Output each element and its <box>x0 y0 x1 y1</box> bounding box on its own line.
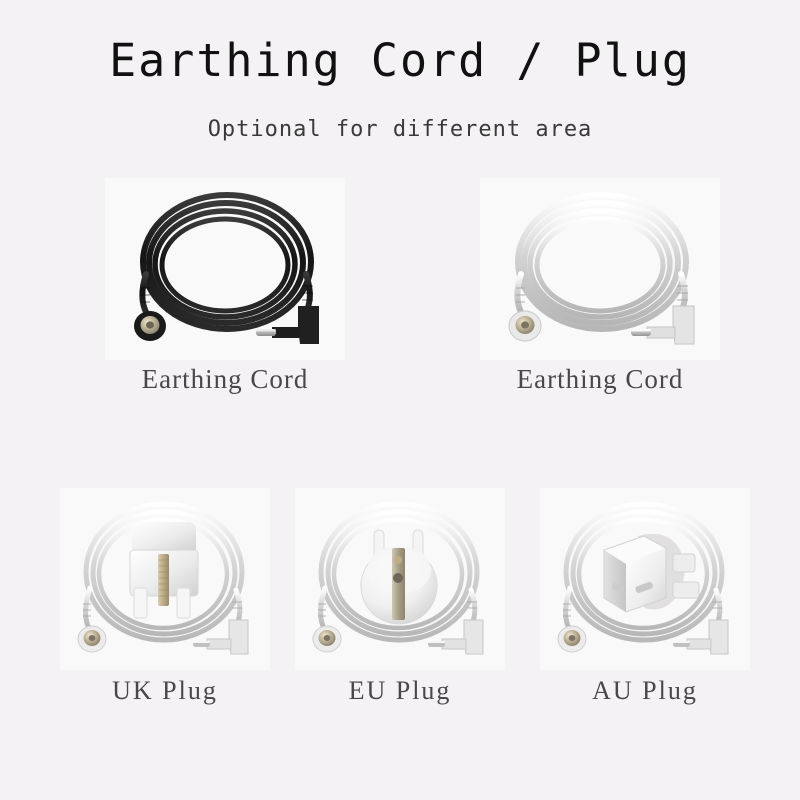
snap-stud-connector-white <box>509 311 541 341</box>
cord-white-illustration <box>480 178 720 360</box>
cord-black-illustration <box>105 178 345 360</box>
product-image-page: Earthing Cord / Plug Optional for differ… <box>0 0 800 800</box>
product-cell-cord-black: Earthing Cord <box>105 178 345 408</box>
page-subtitle: Optional for different area <box>0 117 800 142</box>
uk-plug-body <box>130 522 198 618</box>
plug-uk-illustration <box>60 488 270 670</box>
snap-stud-connector-eu <box>313 626 341 652</box>
product-label-cord-white: Earthing Cord <box>480 364 720 395</box>
product-photo-cord-black <box>105 178 345 360</box>
snap-stud-connector-au <box>558 626 586 652</box>
product-cell-plug-uk: UK Plug <box>60 488 270 733</box>
product-label-plug-au: AU Plug <box>540 676 750 706</box>
product-photo-plug-eu <box>295 488 505 670</box>
product-label-cord-black: Earthing Cord <box>105 364 345 395</box>
product-label-plug-eu: EU Plug <box>295 676 505 706</box>
page-title: Earthing Cord / Plug <box>0 34 800 87</box>
product-photo-plug-au <box>540 488 750 670</box>
product-cell-cord-white: Earthing Cord <box>480 178 720 408</box>
product-cell-plug-eu: EU Plug <box>295 488 505 733</box>
product-photo-plug-uk <box>60 488 270 670</box>
snap-stud-connector-black <box>134 311 166 341</box>
plug-eu-illustration <box>295 488 505 670</box>
product-photo-cord-white <box>480 178 720 360</box>
snap-stud-connector-uk <box>78 626 106 652</box>
plug-au-illustration <box>540 488 750 670</box>
product-label-plug-uk: UK Plug <box>60 676 270 706</box>
product-cell-plug-au: AU Plug <box>540 488 750 733</box>
